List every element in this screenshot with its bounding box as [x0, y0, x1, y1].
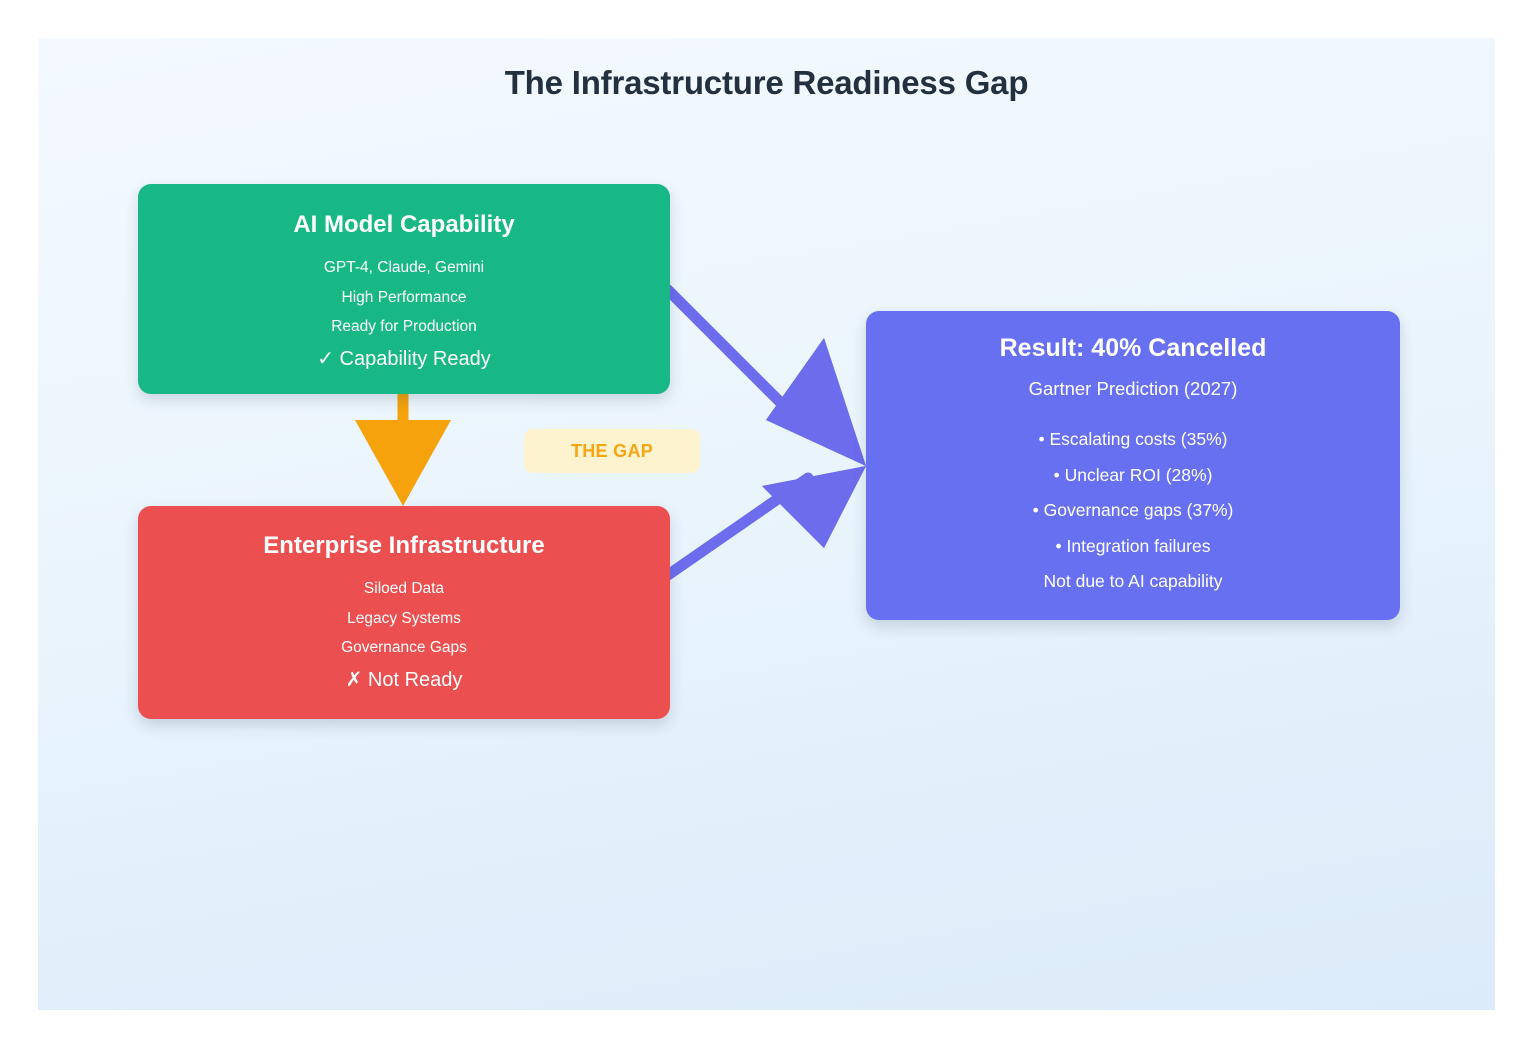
node-enterprise-infrastructure[interactable]: Enterprise Infrastructure Siloed Data Le… [138, 506, 670, 719]
page-title: The Infrastructure Readiness Gap [38, 64, 1495, 102]
node-capability-title: AI Model Capability [138, 212, 670, 238]
gap-badge: THE GAP [524, 429, 700, 473]
node-result-bullet-4: • Integration failures [866, 538, 1400, 556]
node-result-bullet-1: • Escalating costs (35%) [866, 431, 1400, 449]
node-infrastructure-line-1: Siloed Data [138, 581, 670, 597]
node-result-bullet-3: • Governance gaps (37%) [866, 502, 1400, 520]
diagram-canvas: The Infrastructure Readiness Gap AI Mode… [38, 38, 1495, 1010]
node-ai-model-capability[interactable]: AI Model Capability GPT-4, Claude, Gemin… [138, 184, 670, 394]
node-result-subtitle: Gartner Prediction (2027) [866, 380, 1400, 399]
gap-badge-label: THE GAP [571, 441, 653, 462]
node-infrastructure-status: ✗ Not Ready [138, 670, 670, 690]
node-result-title: Result: 40% Cancelled [866, 335, 1400, 363]
node-result-cancelled[interactable]: Result: 40% Cancelled Gartner Prediction… [866, 311, 1400, 620]
connector-arrowhead-icon [762, 338, 866, 548]
node-infrastructure-line-3: Governance Gaps [138, 640, 670, 656]
node-result-bullet-2: • Unclear ROI (28%) [866, 467, 1400, 485]
node-capability-status: ✓ Capability Ready [138, 349, 670, 369]
node-infrastructure-line-2: Legacy Systems [138, 611, 670, 627]
node-infrastructure-title: Enterprise Infrastructure [138, 533, 670, 559]
node-capability-line-3: Ready for Production [138, 319, 670, 335]
gap-arrow-icon [355, 395, 451, 506]
connector-infrastructure-to-result [668, 466, 866, 575]
node-capability-line-2: High Performance [138, 290, 670, 306]
node-result-note: Not due to AI capability [866, 573, 1400, 591]
node-capability-line-1: GPT-4, Claude, Gemini [138, 260, 670, 276]
